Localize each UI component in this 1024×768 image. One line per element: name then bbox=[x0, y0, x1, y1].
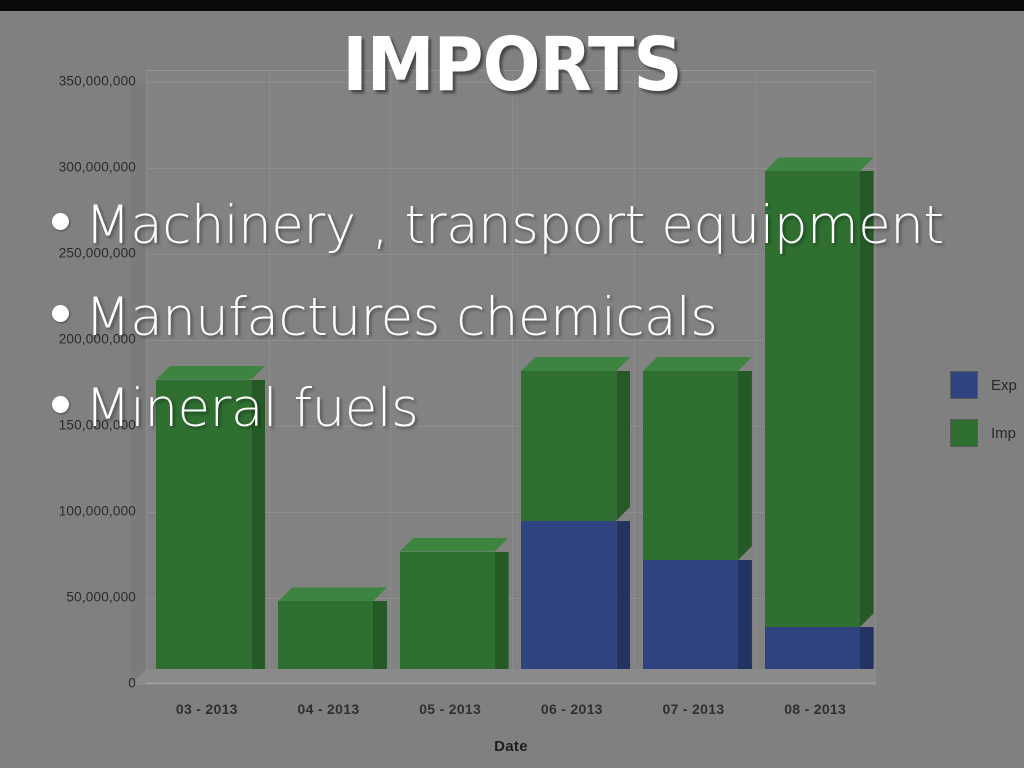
bar-column bbox=[400, 71, 495, 684]
chart-baseline bbox=[146, 682, 876, 684]
bar-front-face bbox=[400, 552, 495, 684]
x-axis-tick-label: 05 - 2013 bbox=[389, 701, 511, 717]
plot-area bbox=[146, 70, 876, 683]
y-axis-tick-label: 100,000,000 bbox=[10, 504, 136, 519]
legend-swatch-exports bbox=[950, 371, 978, 399]
vertical-gridline bbox=[269, 71, 270, 682]
bar-front-face bbox=[521, 521, 616, 684]
bar-top-face bbox=[521, 357, 630, 371]
chart-legend: Exp Imp bbox=[950, 371, 1017, 467]
bar-front-face bbox=[643, 560, 738, 684]
bar-column bbox=[521, 71, 616, 684]
legend-label-exports: Exp bbox=[991, 377, 1017, 394]
bar-side-face bbox=[251, 380, 265, 684]
y-axis-tick-label: 50,000,000 bbox=[10, 590, 136, 605]
x-axis-tick-label: 04 - 2013 bbox=[268, 701, 390, 717]
legend-label-imports: Imp bbox=[991, 425, 1016, 442]
bar-column bbox=[156, 71, 251, 684]
x-axis-tick-label: 08 - 2013 bbox=[754, 701, 876, 717]
bar-side-face bbox=[738, 371, 752, 560]
bar-front-face bbox=[521, 371, 616, 521]
bar-segment-imports bbox=[643, 371, 738, 560]
legend-swatch-imports bbox=[950, 419, 978, 447]
x-axis-tick-label: 03 - 2013 bbox=[146, 701, 268, 717]
chart-area: 350,000,000300,000,000250,000,000200,000… bbox=[0, 11, 1024, 768]
bar-top-face bbox=[156, 366, 265, 380]
bar-segment-exports bbox=[643, 560, 738, 684]
y-axis-tick-label: 300,000,000 bbox=[10, 160, 136, 175]
bar-segment-imports bbox=[400, 552, 495, 684]
y-axis-tick-label: 150,000,000 bbox=[10, 418, 136, 433]
bar-column bbox=[278, 71, 373, 684]
slide-canvas: 350,000,000300,000,000250,000,000200,000… bbox=[0, 0, 1024, 768]
bar-segment-imports bbox=[765, 171, 860, 627]
x-axis-tick-label: 07 - 2013 bbox=[633, 701, 755, 717]
bar-front-face bbox=[156, 380, 251, 684]
bar-top-face bbox=[400, 538, 509, 552]
vertical-gridline bbox=[755, 71, 756, 682]
y-axis-tick-label: 350,000,000 bbox=[10, 74, 136, 89]
bar-side-face bbox=[738, 560, 752, 684]
y-axis-tick-label: 250,000,000 bbox=[10, 246, 136, 261]
y-axis-tick-label: 200,000,000 bbox=[10, 332, 136, 347]
bar-top-face bbox=[765, 157, 874, 171]
vertical-gridline bbox=[512, 71, 513, 682]
x-axis-tick-label: 06 - 2013 bbox=[511, 701, 633, 717]
bar-top-face bbox=[643, 357, 752, 371]
bar-front-face bbox=[643, 371, 738, 560]
bar-column bbox=[765, 71, 860, 684]
top-black-band bbox=[0, 0, 1024, 11]
legend-item-imports: Imp bbox=[950, 419, 1017, 447]
vertical-gridline bbox=[390, 71, 391, 682]
legend-item-exports: Exp bbox=[950, 371, 1017, 399]
bar-front-face bbox=[765, 171, 860, 627]
bar-side-face bbox=[860, 171, 874, 627]
bar-segment-exports bbox=[521, 521, 616, 684]
y-axis-labels: 350,000,000300,000,000250,000,000200,000… bbox=[0, 11, 136, 768]
bar-column bbox=[643, 71, 738, 684]
bar-segment-imports bbox=[521, 371, 616, 521]
vertical-gridline bbox=[634, 71, 635, 682]
bar-side-face bbox=[616, 521, 630, 684]
bar-segment-imports bbox=[156, 380, 251, 684]
bar-side-face bbox=[616, 371, 630, 521]
y-axis-tick-label: 0 bbox=[10, 676, 136, 691]
bar-side-face bbox=[495, 552, 509, 684]
bar-top-face bbox=[278, 587, 387, 601]
x-axis-title: Date bbox=[146, 738, 876, 755]
